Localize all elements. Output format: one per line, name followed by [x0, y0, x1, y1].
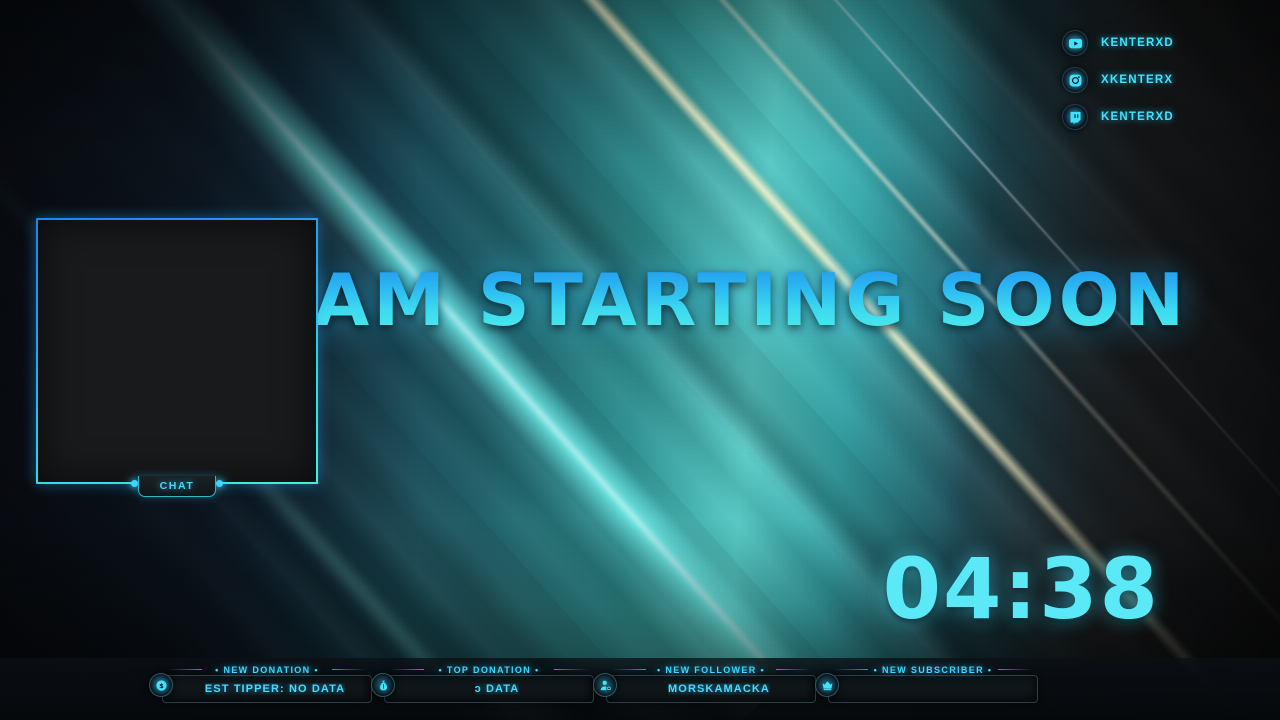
- panel-value-box: ɔ DATA: [384, 675, 594, 703]
- social-handle: KENTERXD: [1101, 111, 1174, 123]
- panel-value-box: EST TIPPER: NO DATA: [162, 675, 372, 703]
- social-links-list: KENTERXD XKENTERX KENTERXD: [1062, 26, 1252, 137]
- social-link-twitch[interactable]: KENTERXD: [1062, 100, 1252, 134]
- panel-title: • NEW SUBSCRIBER •: [828, 665, 1038, 675]
- panel-accent-line-left: [168, 669, 202, 670]
- panel-value-box: MORSKAMACKA: [606, 675, 816, 703]
- chat-panel[interactable]: CHAT: [36, 218, 318, 484]
- user-add-icon: [593, 673, 617, 697]
- coin-icon: $: [149, 673, 173, 697]
- stat-panel-list: • NEW DONATION • $ EST TIPPER: NO DATA •…: [162, 666, 1038, 704]
- panel-accent-line-left: [834, 669, 868, 670]
- panel-value: MORSKAMACKA: [668, 683, 770, 695]
- panel-title: • NEW DONATION •: [162, 665, 372, 675]
- instagram-icon: [1062, 67, 1088, 93]
- social-link-youtube[interactable]: KENTERXD: [1062, 26, 1252, 60]
- panel-accent-line-right: [332, 669, 366, 670]
- panel-accent-line-right: [776, 669, 810, 670]
- panel-value: EST TIPPER: NO DATA: [205, 683, 345, 695]
- stat-panel-top-donation[interactable]: • TOP DONATION • ɔ DATA: [384, 666, 594, 704]
- chat-message-area[interactable]: [38, 220, 316, 482]
- chat-panel-frame: [36, 218, 318, 484]
- chat-tab: CHAT: [138, 476, 216, 497]
- youtube-icon: [1062, 30, 1088, 56]
- crown-icon: [815, 673, 839, 697]
- panel-accent-line-left: [390, 669, 424, 670]
- panel-accent-line-right: [998, 669, 1032, 670]
- twitch-icon: [1062, 104, 1088, 130]
- social-handle: XKENTERX: [1101, 74, 1173, 86]
- chat-tab-dot-left: [131, 480, 138, 487]
- social-handle: KENTERXD: [1101, 37, 1174, 49]
- bottom-info-bar: • NEW DONATION • $ EST TIPPER: NO DATA •…: [0, 658, 1280, 720]
- money-bag-icon: [371, 673, 395, 697]
- chat-tab-label: CHAT: [160, 480, 195, 492]
- panel-accent-line-left: [612, 669, 646, 670]
- panel-accent-line-right: [554, 669, 588, 670]
- social-link-instagram[interactable]: XKENTERX: [1062, 63, 1252, 97]
- chat-tab-dot-right: [216, 480, 223, 487]
- stat-panel-new-donation[interactable]: • NEW DONATION • $ EST TIPPER: NO DATA: [162, 666, 372, 704]
- stream-overlay-scene: KENTERXD XKENTERX KENTERXD: [0, 0, 1280, 720]
- panel-value-box: [828, 675, 1038, 703]
- stat-panel-new-follower[interactable]: • NEW FOLLOWER • MORSKAMACKA: [606, 666, 816, 704]
- stat-panel-new-subscriber[interactable]: • NEW SUBSCRIBER •: [828, 666, 1038, 704]
- panel-value: ɔ DATA: [475, 683, 520, 695]
- panel-title: • TOP DONATION •: [384, 665, 594, 675]
- countdown-timer: 04:38: [883, 540, 1160, 638]
- svg-text:$: $: [159, 681, 164, 689]
- panel-title: • NEW FOLLOWER •: [606, 665, 816, 675]
